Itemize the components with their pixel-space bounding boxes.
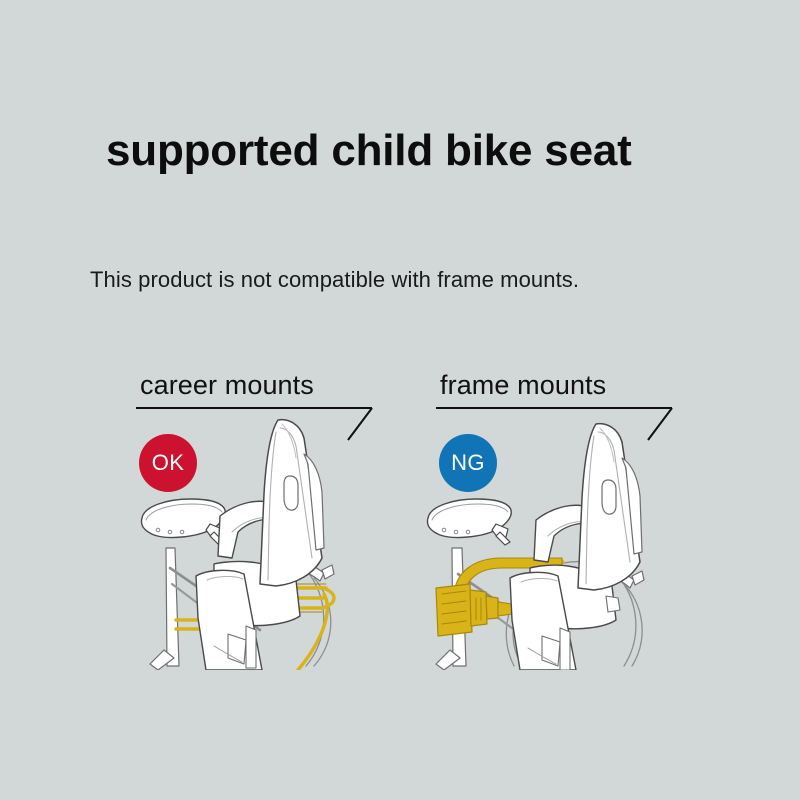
illustration-career-mounts: [110, 398, 410, 670]
panel-frame-mounts: frame mounts NG: [410, 370, 710, 670]
page-title: supported child bike seat: [106, 128, 632, 174]
comparison-panels: career mounts OK: [0, 370, 800, 670]
panel-career-mounts: career mounts OK: [110, 370, 410, 670]
panel-label-career-mounts: career mounts: [140, 370, 314, 401]
page-root: supported child bike seat This product i…: [0, 0, 800, 800]
illustration-frame-mounts: [410, 398, 710, 670]
panel-label-frame-mounts: frame mounts: [440, 370, 606, 401]
page-subtitle: This product is not compatible with fram…: [90, 267, 579, 293]
